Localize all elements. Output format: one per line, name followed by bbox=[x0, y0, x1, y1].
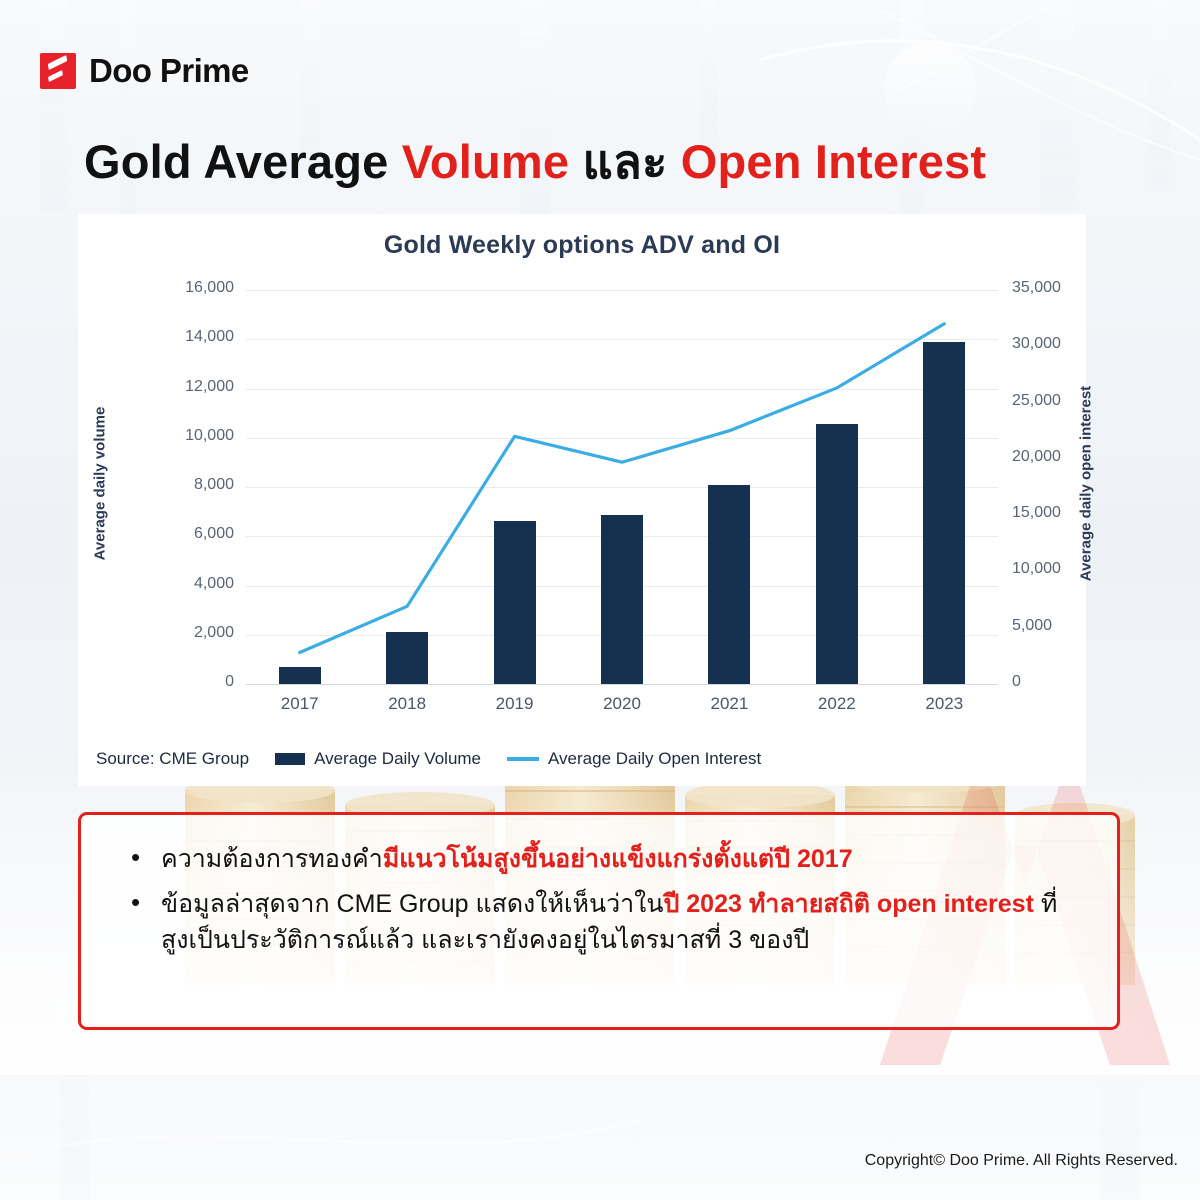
legend-item-volume: Average Daily Volume bbox=[275, 749, 481, 769]
x-tick-2023: 2023 bbox=[884, 694, 1004, 714]
line-series bbox=[246, 290, 998, 684]
gridline bbox=[246, 684, 998, 685]
y-tick-right: 35,000 bbox=[1012, 279, 1132, 297]
headline-volume-highlight: Volume bbox=[402, 135, 569, 188]
chart-title: Gold Weekly options ADV and OI bbox=[78, 214, 1086, 260]
y-tick-left: 2,000 bbox=[114, 624, 234, 642]
y-tick-left: 12,000 bbox=[114, 378, 234, 396]
y-tick-right: 30,000 bbox=[1012, 335, 1132, 353]
y-tick-left: 0 bbox=[114, 673, 234, 691]
y-tick-right: 20,000 bbox=[1012, 448, 1132, 466]
x-tick-2018: 2018 bbox=[347, 694, 467, 714]
y-tick-left: 4,000 bbox=[114, 575, 234, 593]
key-points-list: ความต้องการทองคำมีแนวโน้มสูงขึ้นอย่างแข็… bbox=[127, 841, 1083, 958]
y-tick-left: 6,000 bbox=[114, 525, 234, 543]
legend-label-volume: Average Daily Volume bbox=[314, 749, 481, 769]
legend-bar-swatch-icon bbox=[275, 753, 305, 765]
key-point-text: ข้อมูลล่าสุดจาก CME Group แสดงให้เห็นว่า… bbox=[161, 890, 663, 918]
y-tick-right: 15,000 bbox=[1012, 504, 1132, 522]
y-tick-left: 10,000 bbox=[114, 427, 234, 445]
chart-footer: Source: CME Group Average Daily Volume A… bbox=[78, 749, 1086, 769]
x-tick-2019: 2019 bbox=[455, 694, 575, 714]
legend-label-open-interest: Average Daily Open Interest bbox=[548, 749, 761, 769]
key-point-2: ข้อมูลล่าสุดจาก CME Group แสดงให้เห็นว่า… bbox=[127, 886, 1083, 958]
doo-prime-flag-icon bbox=[40, 53, 76, 89]
key-point-text: ความต้องการทองคำ bbox=[161, 845, 383, 873]
y-tick-right: 10,000 bbox=[1012, 560, 1132, 578]
key-point-1: ความต้องการทองคำมีแนวโน้มสูงขึ้นอย่างแข็… bbox=[127, 841, 1083, 877]
brand-logo: Doo Prime bbox=[40, 52, 249, 90]
key-point-highlight: ปี 2023 ทำลายสถิติ open interest bbox=[663, 890, 1033, 918]
headline-conjunction: และ bbox=[569, 135, 680, 188]
y-tick-left: 14,000 bbox=[114, 328, 234, 346]
key-points-box: ความต้องการทองคำมีแนวโน้มสูงขึ้นอย่างแข็… bbox=[78, 812, 1120, 1030]
y-axis-right-title: Average daily open interest bbox=[1078, 334, 1095, 634]
copyright-notice: Copyright© Doo Prime. All Rights Reserve… bbox=[865, 1152, 1178, 1170]
x-tick-2021: 2021 bbox=[669, 694, 789, 714]
brand-name: Doo Prime bbox=[89, 52, 249, 90]
y-tick-right: 5,000 bbox=[1012, 617, 1132, 635]
chart-plot-area: Average daily volume Average daily open … bbox=[78, 270, 1086, 730]
chart-card: Gold Weekly options ADV and OI Average d… bbox=[78, 214, 1086, 786]
key-point-highlight: มีแนวโน้มสูงขึ้นอย่างแข็งแกร่งตั้งแต่ปี … bbox=[383, 845, 853, 873]
x-tick-2020: 2020 bbox=[562, 694, 682, 714]
y-axis-left-title: Average daily volume bbox=[92, 334, 109, 634]
legend-item-open-interest: Average Daily Open Interest bbox=[507, 749, 761, 769]
chart-source-label: Source: CME Group bbox=[96, 749, 249, 769]
y-tick-left: 16,000 bbox=[114, 279, 234, 297]
x-tick-2017: 2017 bbox=[240, 694, 360, 714]
headline-open-interest-highlight: Open Interest bbox=[681, 135, 987, 188]
y-tick-right: 0 bbox=[1012, 673, 1132, 691]
x-tick-2022: 2022 bbox=[777, 694, 897, 714]
y-tick-left: 8,000 bbox=[114, 476, 234, 494]
headline-part-1: Gold Average bbox=[84, 135, 402, 188]
page-title: Gold Average Volume และ Open Interest bbox=[84, 124, 1144, 199]
y-tick-right: 25,000 bbox=[1012, 392, 1132, 410]
legend-line-swatch-icon bbox=[507, 757, 539, 761]
